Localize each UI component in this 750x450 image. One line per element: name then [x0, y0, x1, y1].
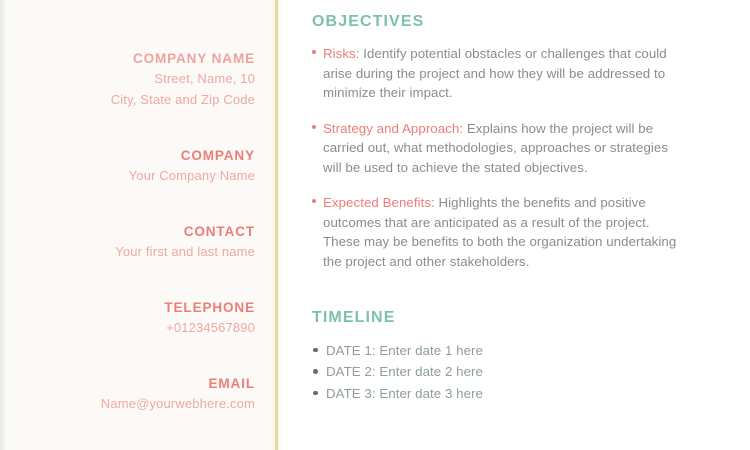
timeline-section: TIMELINE DATE 1: Enter date 1 here DATE … [312, 308, 688, 405]
field-label-contact: CONTACT [18, 223, 255, 241]
objectives-item: Risks: Identify potential obstacles or c… [312, 44, 688, 103]
field-value-company: Your Company Name [18, 167, 255, 186]
timeline-heading: TIMELINE [312, 308, 688, 327]
field-value-company-address-line-2: City, State and Zip Code [18, 91, 255, 110]
field-label-telephone: TELEPHONE [18, 299, 255, 317]
field-company: COMPANY Your Company Name [18, 110, 255, 186]
field-value-contact: Your first and last name [18, 243, 255, 262]
timeline-item-text: DATE 3: Enter date 3 here [326, 386, 483, 401]
bullet-dot-icon [312, 125, 316, 129]
field-value-email: Name@yourwebhere.com [18, 395, 255, 414]
field-value-company-address-line-1: Street, Name, 10 [18, 70, 255, 89]
objectives-section: OBJECTIVES Risks: Identify potential obs… [312, 12, 688, 272]
timeline-item-text: DATE 1: Enter date 1 here [326, 343, 483, 358]
field-telephone: TELEPHONE +01234567890 [18, 262, 255, 338]
field-contact: CONTACT Your first and last name [18, 186, 255, 262]
timeline-item-text: DATE 2: Enter date 2 here [326, 364, 483, 379]
bullet-dot-icon [313, 391, 318, 396]
field-label-company-name: COMPANY NAME [18, 50, 255, 68]
field-value-telephone: +01234567890 [18, 319, 255, 338]
bullet-dot-icon [312, 199, 316, 203]
bullet-dot-icon [312, 50, 316, 54]
field-label-company: COMPANY [18, 147, 255, 165]
column-divider [275, 0, 278, 450]
objectives-item-term: Strategy and Approach: [323, 121, 463, 136]
timeline-list-item: DATE 1: Enter date 1 here [312, 340, 688, 362]
objectives-item: Strategy and Approach: Explains how the … [312, 119, 688, 178]
page-left-edge [0, 0, 6, 450]
timeline-list-item: DATE 3: Enter date 3 here [312, 383, 688, 405]
bullet-dot-icon [313, 348, 318, 353]
field-email: EMAIL Name@yourwebhere.com [18, 338, 255, 414]
field-label-email: EMAIL [18, 375, 255, 393]
objectives-item-text: Identify potential obstacles or challeng… [323, 46, 667, 100]
field-company-name: COMPANY NAME Street, Name, 10 City, Stat… [18, 0, 255, 110]
timeline-list: DATE 1: Enter date 1 here DATE 2: Enter … [312, 340, 688, 405]
objectives-item-term: Expected Benefits: [323, 195, 435, 210]
objectives-heading: OBJECTIVES [312, 12, 688, 31]
proposal-page: COMPANY NAME Street, Name, 10 City, Stat… [0, 0, 750, 450]
objectives-item-term: Risks: [323, 46, 360, 61]
content-column: OBJECTIVES Risks: Identify potential obs… [277, 0, 750, 450]
bullet-dot-icon [313, 369, 318, 374]
objectives-item: Expected Benefits: Highlights the benefi… [312, 193, 688, 271]
contact-info-column: COMPANY NAME Street, Name, 10 City, Stat… [0, 0, 277, 450]
timeline-list-item: DATE 2: Enter date 2 here [312, 361, 688, 383]
